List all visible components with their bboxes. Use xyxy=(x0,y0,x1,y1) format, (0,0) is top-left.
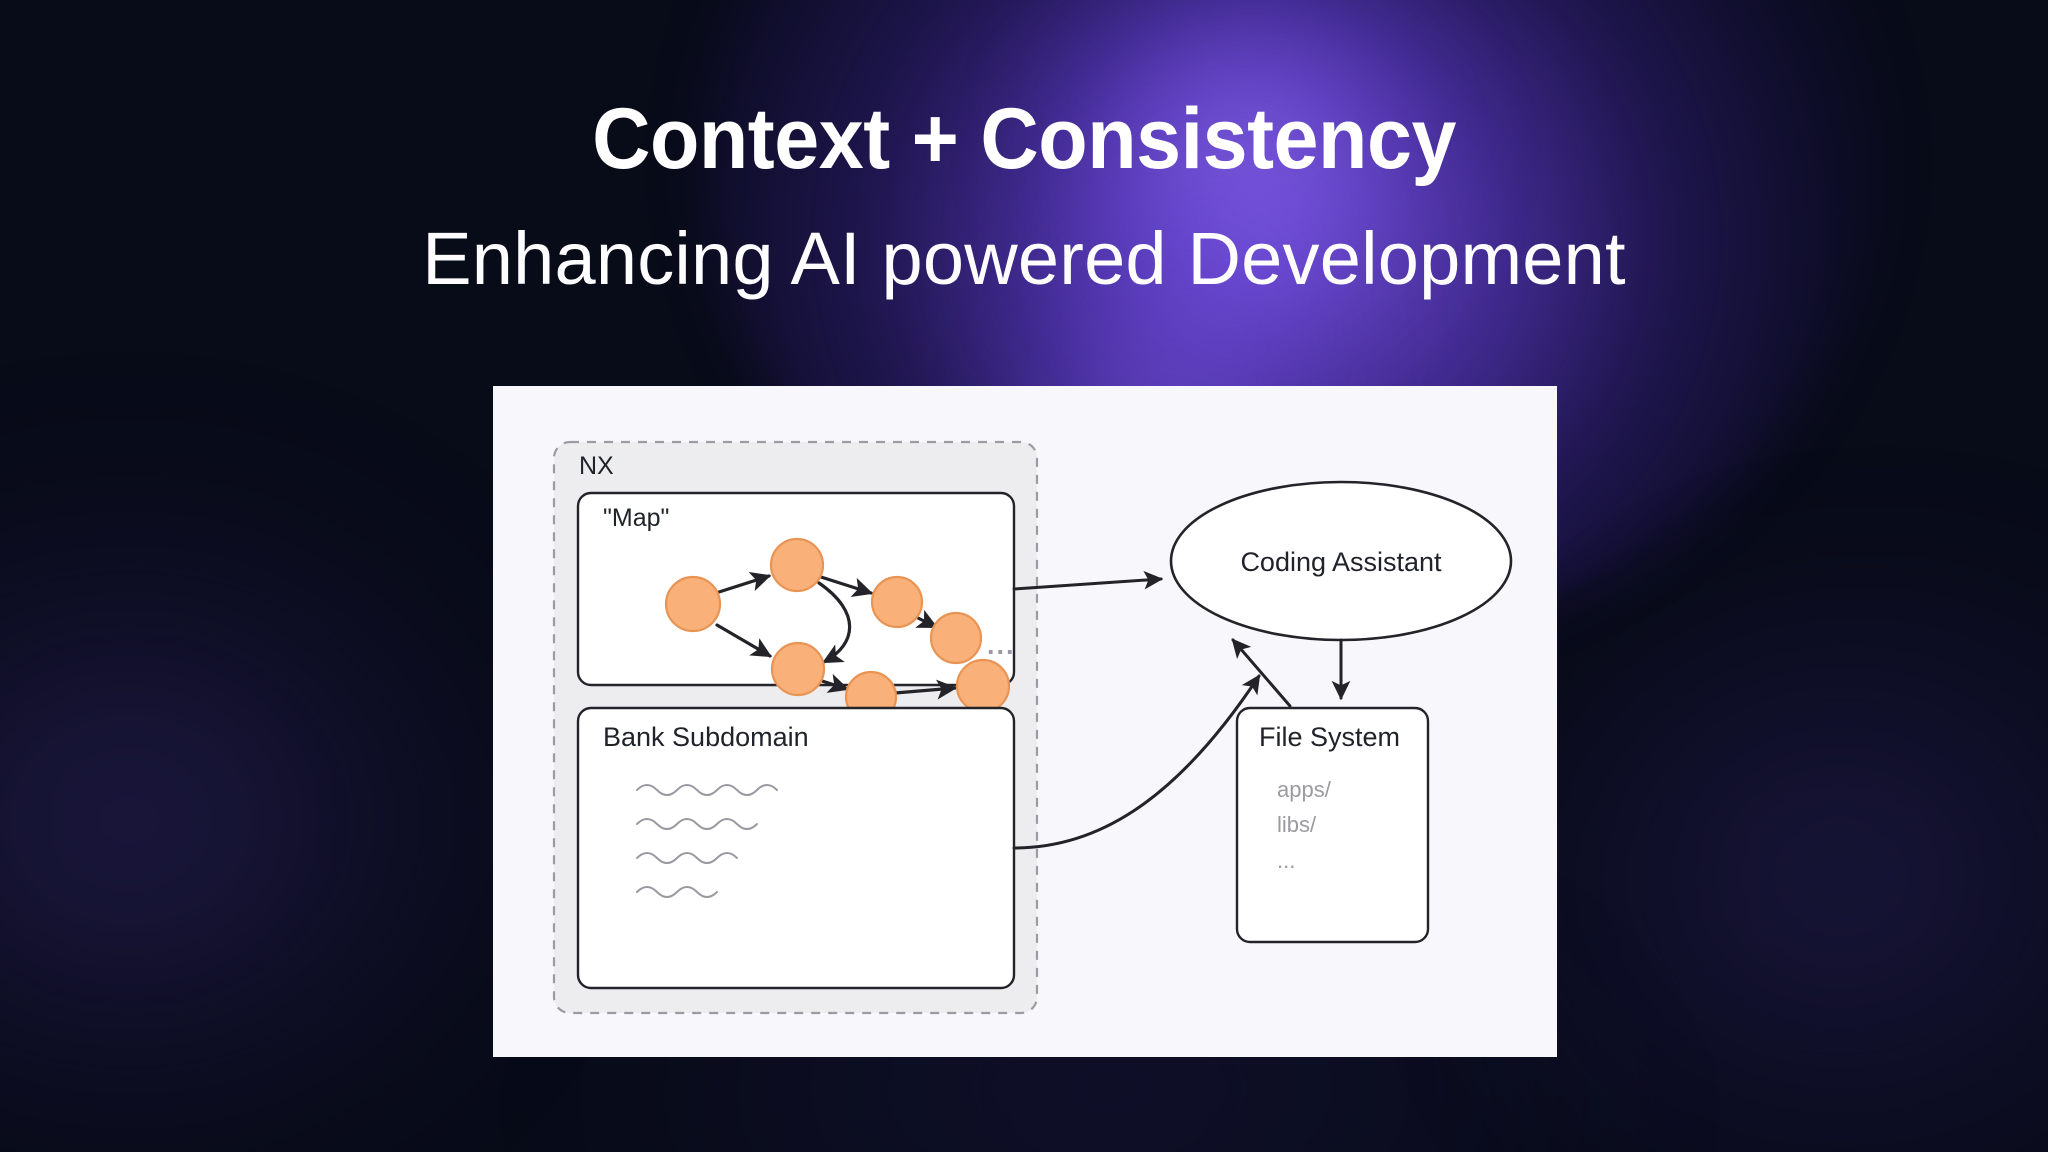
coding-assistant-node: Coding Assistant xyxy=(1171,482,1511,640)
bank-subdomain-label: Bank Subdomain xyxy=(603,722,809,752)
arrow-filesystem-to-assistant xyxy=(1233,640,1290,706)
file-system-entry: libs/ xyxy=(1277,812,1317,837)
map-box-label: "Map" xyxy=(603,504,669,532)
architecture-diagram: NX "Map" xyxy=(493,386,1557,1057)
file-system-label: File System xyxy=(1259,722,1400,752)
nx-group-label: NX xyxy=(579,452,614,480)
file-system-entry: apps/ xyxy=(1277,777,1332,802)
arrow-bank-to-assistant xyxy=(1014,676,1259,848)
file-system-box: File System apps/ libs/ ... xyxy=(1237,708,1428,942)
graph-node xyxy=(931,613,981,663)
slide-subtitle: Enhancing AI powered Development xyxy=(0,222,2048,296)
map-graph-ellipsis: ... xyxy=(987,630,1016,660)
diagram-panel: NX "Map" xyxy=(493,386,1557,1057)
bank-subdomain-box: Bank Subdomain xyxy=(578,708,1014,988)
graph-node xyxy=(872,577,922,627)
coding-assistant-label: Coding Assistant xyxy=(1240,547,1442,577)
heading-block: Context + Consistency Enhancing AI power… xyxy=(0,96,2048,296)
graph-node xyxy=(957,660,1009,712)
graph-node xyxy=(771,539,823,591)
graph-node xyxy=(666,577,720,631)
file-system-entry: ... xyxy=(1277,848,1295,873)
graph-node xyxy=(772,643,824,695)
slide-title: Context + Consistency xyxy=(61,96,1986,182)
background-glow-right xyxy=(1480,560,2048,1152)
slide-canvas: Context + Consistency Enhancing AI power… xyxy=(0,0,2048,1152)
